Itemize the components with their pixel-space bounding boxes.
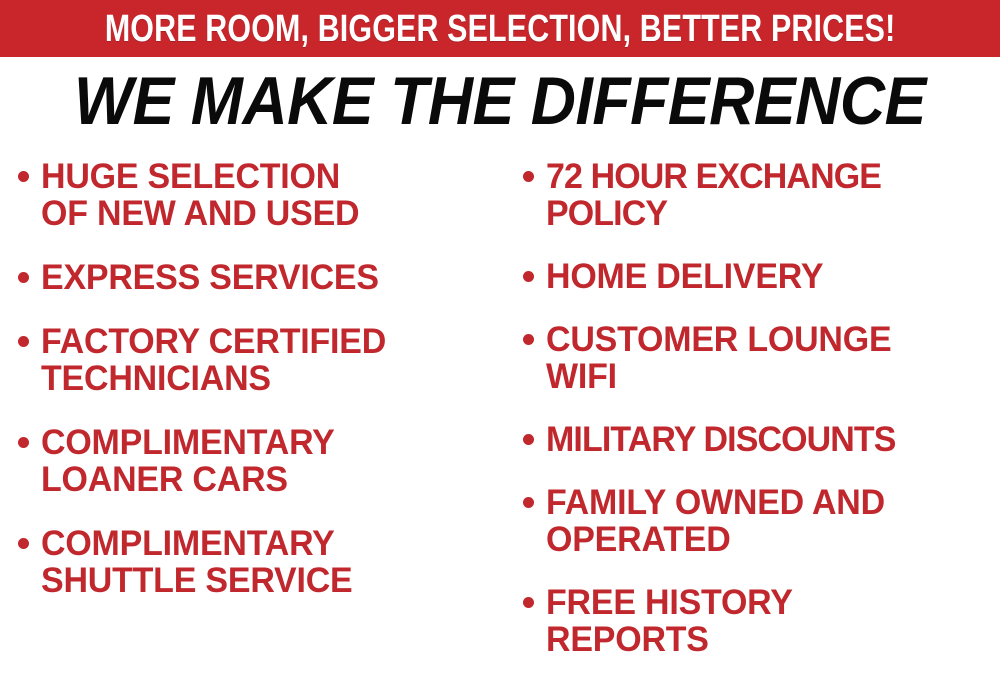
bullet-dot-icon (523, 434, 534, 445)
page-title: WE MAKE THE DIFFERENCE (74, 66, 926, 136)
list-item: HOME DELIVERY (523, 258, 1000, 295)
list-item: FREE HISTORY REPORTS (523, 584, 1000, 658)
list-item-label: FACTORY CERTIFIED TECHNICIANS (41, 323, 386, 397)
bullet-dot-icon (18, 437, 29, 448)
list-item: MILITARY DISCOUNTS (523, 421, 1000, 458)
benefits-columns: HUGE SELECTION OF NEW AND USED EXPRESS S… (0, 158, 1000, 694)
promo-poster: MORE ROOM, BIGGER SELECTION, BETTER PRIC… (0, 0, 1000, 694)
list-item-label: FAMILY OWNED AND OPERATED (546, 484, 885, 558)
headline-container: WE MAKE THE DIFFERENCE (0, 62, 1000, 140)
list-item: COMPLIMENTARY LOANER CARS (18, 424, 505, 498)
list-item-label: COMPLIMENTARY SHUTTLE SERVICE (41, 525, 353, 599)
list-item-label: FREE HISTORY REPORTS (546, 584, 793, 658)
list-item: 72 HOUR EXCHANGE POLICY (523, 158, 1000, 232)
list-item: FACTORY CERTIFIED TECHNICIANS (18, 323, 505, 397)
top-banner-text: MORE ROOM, BIGGER SELECTION, BETTER PRIC… (105, 10, 896, 48)
bullet-dot-icon (523, 597, 534, 608)
list-item-label: HUGE SELECTION OF NEW AND USED (41, 158, 359, 232)
bullet-dot-icon (523, 497, 534, 508)
list-item: FAMILY OWNED AND OPERATED (523, 484, 1000, 558)
top-banner: MORE ROOM, BIGGER SELECTION, BETTER PRIC… (0, 0, 1000, 57)
list-item-label: HOME DELIVERY (546, 258, 823, 295)
list-item: EXPRESS SERVICES (18, 259, 505, 296)
list-item: COMPLIMENTARY SHUTTLE SERVICE (18, 525, 505, 599)
list-item-label: COMPLIMENTARY LOANER CARS (41, 424, 335, 498)
bullet-dot-icon (523, 334, 534, 345)
bullet-dot-icon (18, 171, 29, 182)
list-item-label: 72 HOUR EXCHANGE POLICY (546, 158, 881, 232)
list-item-label: MILITARY DISCOUNTS (546, 421, 896, 458)
list-item-label: CUSTOMER LOUNGE WIFI (546, 321, 891, 395)
bullet-dot-icon (523, 271, 534, 282)
bullet-dot-icon (523, 171, 534, 182)
list-item: CUSTOMER LOUNGE WIFI (523, 321, 1000, 395)
bullet-dot-icon (18, 272, 29, 283)
bullet-dot-icon (18, 336, 29, 347)
list-item-label: EXPRESS SERVICES (41, 259, 379, 296)
benefits-column-right: 72 HOUR EXCHANGE POLICY HOME DELIVERY CU… (505, 158, 1000, 684)
list-item: HUGE SELECTION OF NEW AND USED (18, 158, 505, 232)
bullet-dot-icon (18, 538, 29, 549)
benefits-column-left: HUGE SELECTION OF NEW AND USED EXPRESS S… (0, 158, 505, 626)
